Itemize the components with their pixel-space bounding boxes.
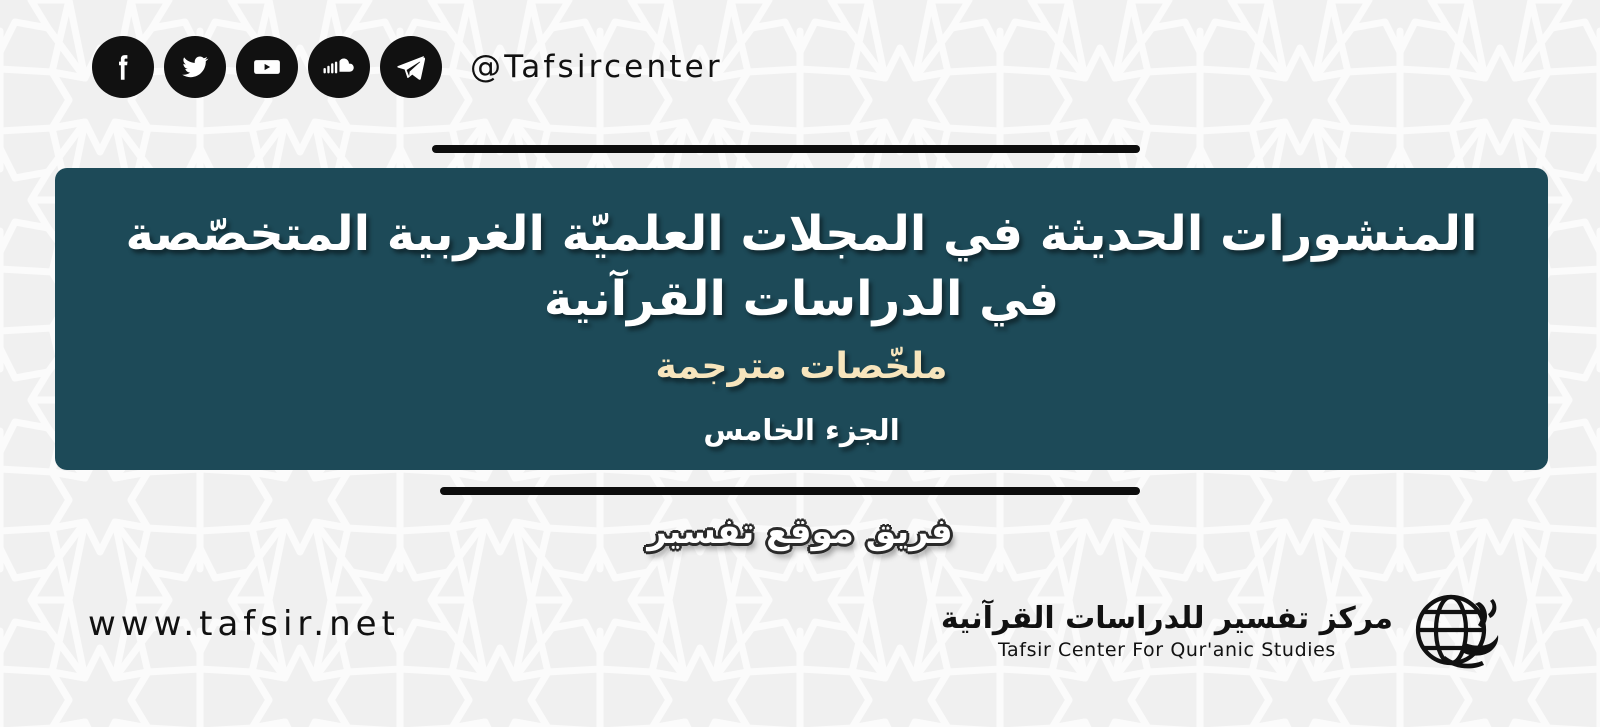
telegram-icon[interactable] — [380, 36, 442, 98]
globe-tafsir-logo-icon — [1405, 582, 1505, 682]
part-label: الجزء الخامس — [703, 413, 899, 447]
logo-text-group: مركز تفسير للدراسات القرآنية Tafsir Cent… — [941, 603, 1393, 662]
title-panel: المنشورات الحديثة في المجلات العلميّة ال… — [55, 168, 1548, 470]
banner-root: @Tafsircenter المنشورات الحديثة في المجل… — [0, 0, 1600, 727]
brand-logo-block: مركز تفسير للدراسات القرآنية Tafsir Cent… — [941, 582, 1505, 682]
social-links-row: @Tafsircenter — [92, 36, 723, 98]
youtube-icon[interactable] — [236, 36, 298, 98]
byline-text: فريق موقع تفسير — [0, 512, 1600, 552]
divider-rule-top — [432, 145, 1140, 153]
soundcloud-icon[interactable] — [308, 36, 370, 98]
page-title: المنشورات الحديثة في المجلات العلميّة ال… — [102, 202, 1502, 332]
twitter-icon[interactable] — [164, 36, 226, 98]
divider-rule-bottom — [440, 487, 1140, 495]
page-subtitle: ملخّصات مترجمة — [656, 346, 948, 387]
social-handle-text: @Tafsircenter — [470, 49, 723, 85]
facebook-icon[interactable] — [92, 36, 154, 98]
logo-english-name: Tafsir Center For Qur'anic Studies — [998, 639, 1336, 661]
website-url[interactable]: www.tafsir.net — [88, 604, 400, 644]
logo-arabic-name: مركز تفسير للدراسات القرآنية — [941, 603, 1393, 635]
